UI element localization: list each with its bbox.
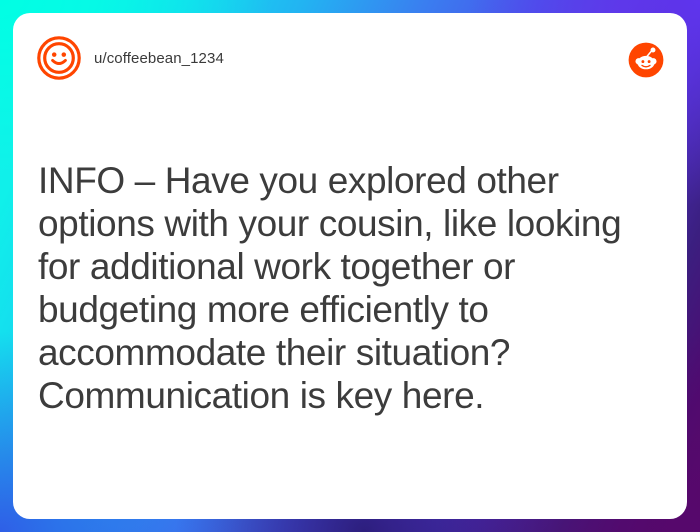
- reddit-post-card: u/coffeebean_1234 INFO – Have you explor…: [13, 13, 687, 519]
- card-header: u/coffeebean_1234: [13, 13, 687, 103]
- reddit-snoo-icon[interactable]: [628, 42, 664, 78]
- smiley-face-avatar-icon[interactable]: [37, 36, 81, 80]
- user-identity-block[interactable]: u/coffeebean_1234: [37, 36, 224, 80]
- post-body-text: INFO – Have you explored other options w…: [38, 159, 657, 417]
- username-label: u/coffeebean_1234: [94, 50, 224, 67]
